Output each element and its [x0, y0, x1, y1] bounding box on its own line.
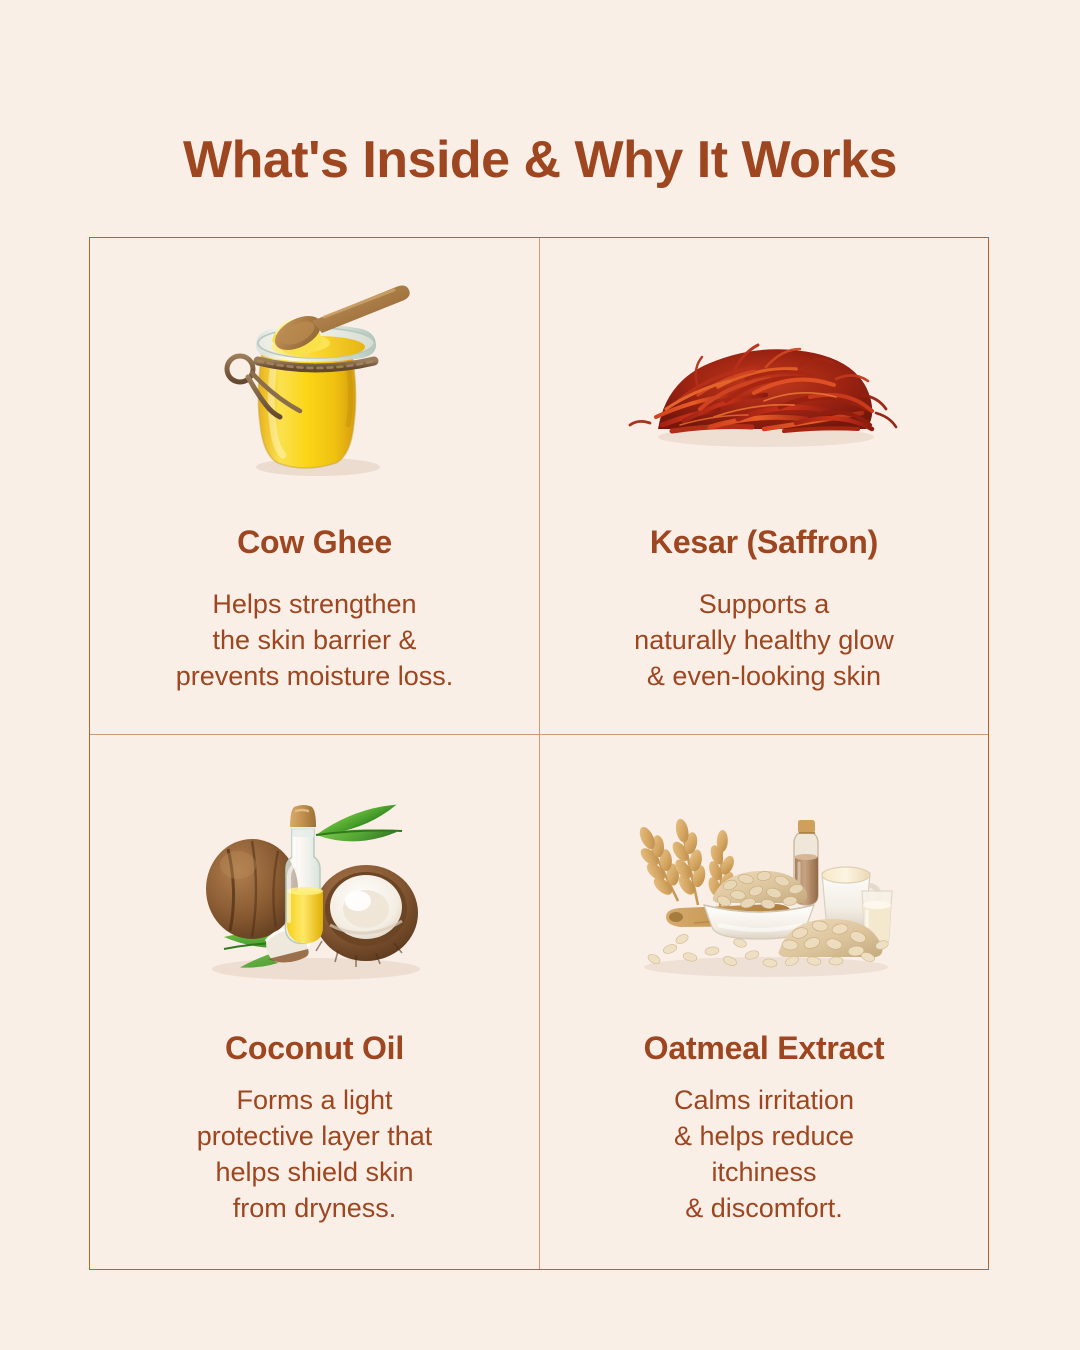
ingredient-card-coconut-oil: Coconut Oil Forms a light protective lay… — [90, 734, 539, 1269]
ingredients-grid: Cow Ghee Helps strengthen the skin barri… — [89, 237, 989, 1270]
ingredient-card-cow-ghee: Cow Ghee Helps strengthen the skin barri… — [90, 238, 539, 734]
ingredient-name: Coconut Oil — [225, 1030, 404, 1067]
ingredient-card-kesar-saffron: Kesar (Saffron) Supports a naturally hea… — [539, 238, 988, 734]
oatmeal-extract-image — [624, 773, 904, 988]
ingredient-name: Kesar (Saffron) — [650, 524, 878, 561]
saffron-threads-image — [614, 276, 914, 486]
ingredient-description: Supports a naturally healthy glow & even… — [634, 587, 894, 695]
ghee-jar-image — [200, 276, 430, 486]
coconut-oil-image — [190, 773, 440, 988]
page-title: What's Inside & Why It Works — [0, 133, 1080, 188]
infographic-page: What's Inside & Why It Works — [0, 0, 1080, 1350]
ingredient-name: Cow Ghee — [237, 524, 392, 561]
ingredient-name: Oatmeal Extract — [644, 1030, 885, 1067]
ingredient-description: Forms a light protective layer that help… — [197, 1083, 433, 1227]
ingredient-description: Calms irritation & helps reduce itchines… — [674, 1083, 854, 1227]
ingredient-card-oatmeal-extract: Oatmeal Extract Calms irritation & helps… — [539, 734, 988, 1269]
ingredient-description: Helps strengthen the skin barrier & prev… — [176, 587, 454, 695]
